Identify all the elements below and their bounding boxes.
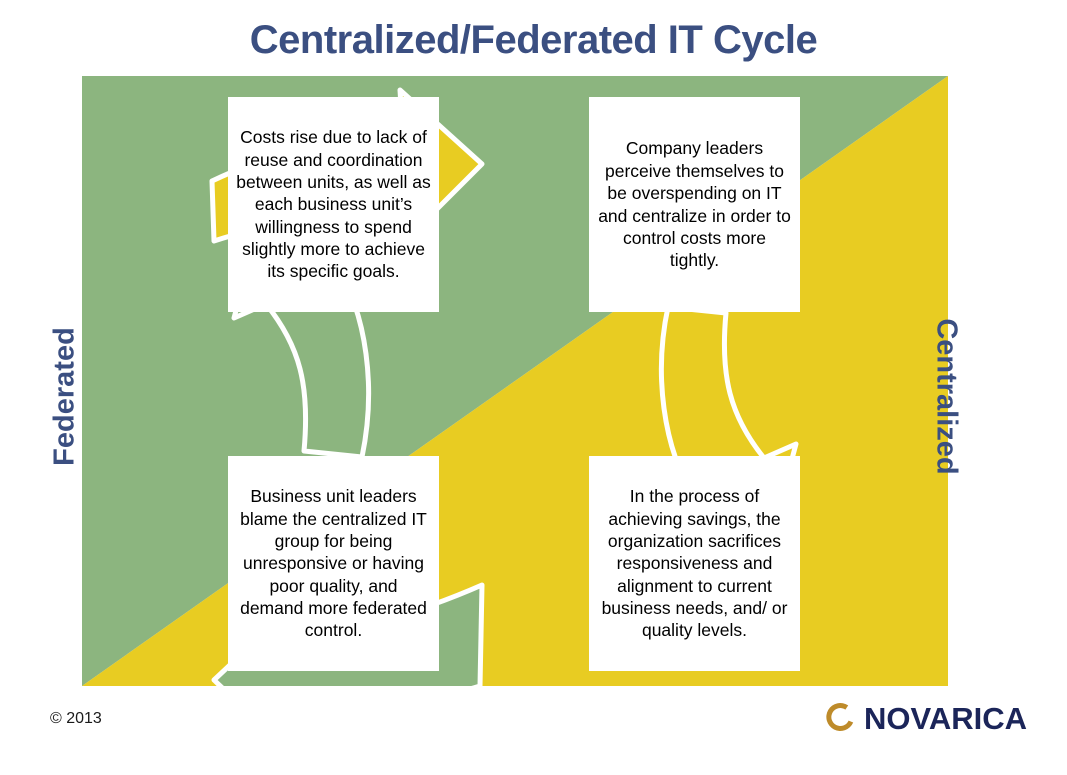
cycle-box-bottom-right[interactable]: In the process of achieving savings, the… [589,456,800,671]
cycle-box-bottom-right-text: In the process of achieving savings, the… [597,485,792,642]
novarica-logo: NOVARICA [822,700,1027,736]
ring-c-icon [822,700,858,736]
novarica-logo-text: NOVARICA [864,703,1027,734]
cycle-diagram-panel [82,76,948,686]
axis-label-centralized: Centralized [930,277,963,517]
cycle-box-bottom-left-text: Business unit leaders blame the centrali… [236,485,431,642]
axis-label-federated: Federated [49,297,82,497]
page-title: Centralized/Federated IT Cycle [0,18,1067,63]
slide-canvas: Centralized/Federated IT Cycle [0,0,1067,775]
panel-background [82,76,948,686]
cycle-box-top-left[interactable]: Costs rise due to lack of reuse and coor… [228,97,439,312]
copyright-notice: © 2013 [50,710,102,728]
cycle-box-top-right-text: Company leaders perceive themselves to b… [597,137,792,271]
cycle-box-top-left-text: Costs rise due to lack of reuse and coor… [236,126,431,283]
cycle-box-bottom-left[interactable]: Business unit leaders blame the centrali… [228,456,439,671]
cycle-box-top-right[interactable]: Company leaders perceive themselves to b… [589,97,800,312]
